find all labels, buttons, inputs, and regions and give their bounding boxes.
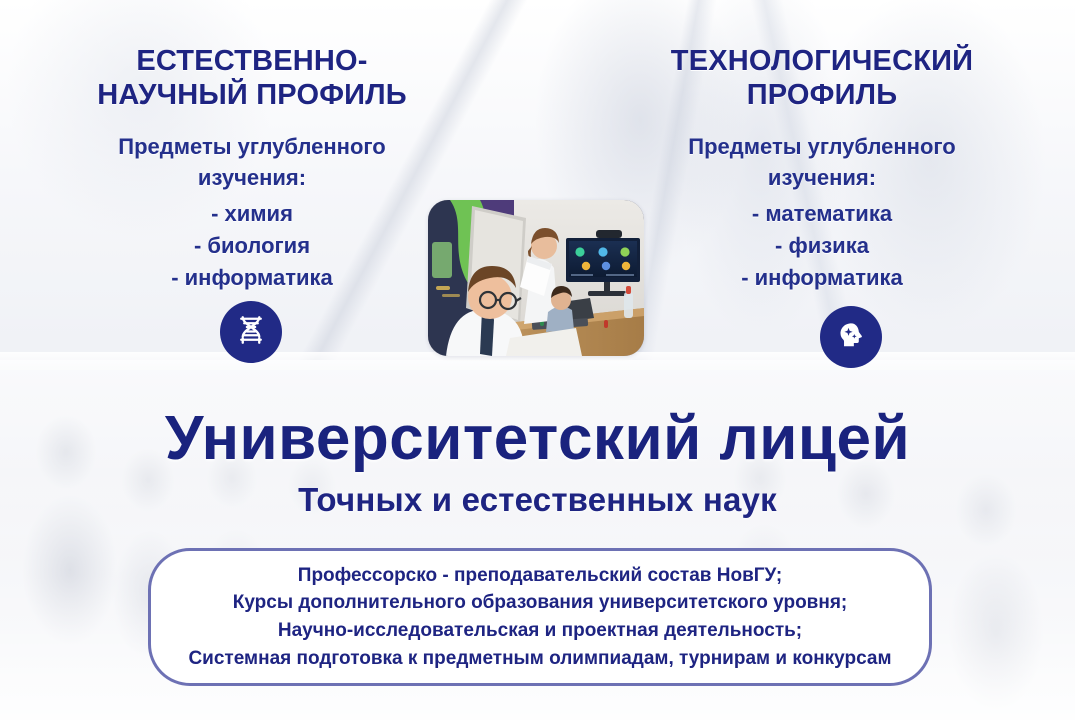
list-item: - информатика bbox=[52, 262, 452, 294]
info-line: Системная подготовка к предметным олимпи… bbox=[188, 645, 891, 673]
info-line: Профессорско - преподавательский состав … bbox=[298, 562, 782, 590]
natural-science-subtitle-line1: Предметы углубленного bbox=[52, 132, 452, 163]
technological-title-line2: ПРОФИЛЬ bbox=[622, 78, 1022, 112]
list-item: - физика bbox=[622, 230, 1022, 262]
technological-subtitle-line2: изучения: bbox=[622, 163, 1022, 194]
dna-icon-badge bbox=[220, 301, 282, 363]
natural-science-title-line1: ЕСТЕСТВЕННО- bbox=[52, 44, 452, 78]
info-line: Научно-исследовательская и проектная дея… bbox=[278, 617, 802, 645]
profile-column-technological: ТЕХНОЛОГИЧЕСКИЙ ПРОФИЛЬ Предметы углубле… bbox=[622, 44, 1022, 294]
list-item: - биология bbox=[52, 230, 452, 262]
dna-icon bbox=[233, 312, 269, 353]
technological-title: ТЕХНОЛОГИЧЕСКИЙ ПРОФИЛЬ bbox=[622, 44, 1022, 112]
natural-science-subtitle-line2: изучения: bbox=[52, 163, 452, 194]
head-sparkle-icon-badge bbox=[820, 306, 882, 368]
head-sparkle-icon bbox=[833, 317, 869, 358]
list-item: - химия bbox=[52, 198, 452, 230]
classroom-photo bbox=[428, 200, 644, 356]
natural-science-title: ЕСТЕСТВЕННО- НАУЧНЫЙ ПРОФИЛЬ bbox=[52, 44, 452, 112]
page-title: Университетский лицей bbox=[0, 406, 1075, 472]
technological-subject-list: - математика - физика - информатика bbox=[622, 198, 1022, 294]
profile-column-natural-science: ЕСТЕСТВЕННО- НАУЧНЫЙ ПРОФИЛЬ Предметы уг… bbox=[52, 44, 452, 294]
list-item: - математика bbox=[622, 198, 1022, 230]
list-item: - информатика bbox=[622, 262, 1022, 294]
presentation-slide: ЕСТЕСТВЕННО- НАУЧНЫЙ ПРОФИЛЬ Предметы уг… bbox=[0, 0, 1075, 720]
info-line: Курсы дополнительного образования универ… bbox=[233, 589, 848, 617]
natural-science-title-line2: НАУЧНЫЙ ПРОФИЛЬ bbox=[52, 78, 452, 112]
technological-subtitle: Предметы углубленного изучения: bbox=[622, 132, 1022, 194]
features-info-box: Профессорско - преподавательский состав … bbox=[148, 548, 932, 686]
natural-science-subject-list: - химия - биология - информатика bbox=[52, 198, 452, 294]
technological-title-line1: ТЕХНОЛОГИЧЕСКИЙ bbox=[622, 44, 1022, 78]
page-subtitle: Точных и естественных наук bbox=[0, 481, 1075, 519]
technological-subtitle-line1: Предметы углубленного bbox=[622, 132, 1022, 163]
natural-science-subtitle: Предметы углубленного изучения: bbox=[52, 132, 452, 194]
